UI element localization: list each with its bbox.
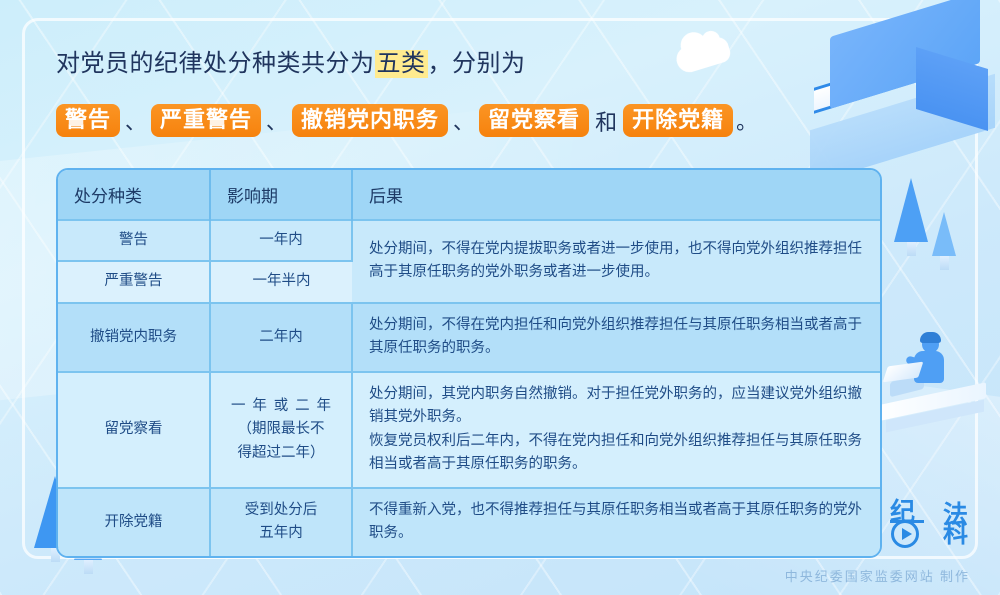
footer-credit: 中央纪委国家监委网站 制作 <box>785 566 970 585</box>
period-line-2: 五年内 <box>225 522 337 545</box>
table-header: 处分种类 影响期 后果 <box>58 170 880 220</box>
headline-before-text: 对党员的纪律处分种类共分为 <box>56 51 375 77</box>
cell-period-serious-warning: 一年半内 <box>210 261 352 302</box>
table-row: 警告 一年内 处分期间，不得在党内提拔职务或者进一步使用，也不得向党外组织推荐担… <box>58 220 880 261</box>
period-line-3: 得超过二年） <box>225 442 337 465</box>
badge-expulsion: 开除党籍 <box>623 104 733 137</box>
period-line-1: 一 年 或 二 年 <box>225 395 337 418</box>
cell-kind-warning: 警告 <box>58 220 210 261</box>
badge-conjunction: 和 <box>589 105 623 137</box>
cell-consequence-revoke-post: 处分期间，不得在党内担任和向党外组织推荐担任与其原任职务相当或者高于其原任职务的… <box>352 303 880 372</box>
consequence-paragraph-1: 处分期间，其党内职务自然撤销。对于担任党外职务的，应当建议党外组织撤销其党外职务… <box>369 383 864 430</box>
punishment-type-badge-list: 警告 、 严重警告 、 撤销党内职务 、 留党察看 和 开除党籍 。 <box>56 104 757 137</box>
punishment-table: 处分种类 影响期 后果 警告 一年内 处分期间，不得在党内提拔职务或者进一步使用… <box>58 170 880 556</box>
badge-separator: 、 <box>120 106 151 136</box>
cell-kind-probation: 留党察看 <box>58 372 210 488</box>
table-row: 撤销党内职务 二年内 处分期间，不得在党内担任和向党外组织推荐担任与其原任职务相… <box>58 303 880 372</box>
table-body: 警告 一年内 处分期间，不得在党内提拔职务或者进一步使用，也不得向党外组织推荐担… <box>58 220 880 556</box>
badge-serious-warning: 严重警告 <box>151 104 261 137</box>
cell-period-probation: 一 年 或 二 年 （期限最长不 得超过二年） <box>210 372 352 488</box>
cell-kind-revoke-post: 撤销党内职务 <box>58 303 210 372</box>
headline-highlight: 五类 <box>375 50 428 78</box>
period-line-1: 受到处分后 <box>225 499 337 522</box>
column-header-kind: 处分种类 <box>58 170 210 220</box>
cell-period-revoke-post: 二年内 <box>210 303 352 372</box>
badge-separator: 、 <box>448 106 479 136</box>
cell-kind-serious-warning: 严重警告 <box>58 261 210 302</box>
site-logo: 纪 法 科 <box>890 492 968 548</box>
period-line-2: （期限最长不 <box>225 418 337 441</box>
table-row: 留党察看 一 年 或 二 年 （期限最长不 得超过二年） 处分期间，其党内职务自… <box>58 372 880 488</box>
badge-probation: 留党察看 <box>479 104 589 137</box>
cell-consequence-warning-group: 处分期间，不得在党内提拔职务或者进一步使用，也不得向党外组织推荐担任高于其原任职… <box>352 220 880 303</box>
poster-canvas: 对党员的纪律处分种类共分为五类，分别为 警告 、 严重警告 、 撤销党内职务 、… <box>0 0 1000 595</box>
headline-after-text: ，分别为 <box>428 51 526 77</box>
punishment-table-container: 处分种类 影响期 后果 警告 一年内 处分期间，不得在党内提拔职务或者进一步使用… <box>56 168 882 558</box>
badge-period-mark: 。 <box>733 106 757 136</box>
cell-consequence-probation: 处分期间，其党内职务自然撤销。对于担任党外职务的，应当建议党外组织撤销其党外职务… <box>352 372 880 488</box>
logo-char-ke: 科 <box>943 514 968 550</box>
badge-warning: 警告 <box>56 104 120 137</box>
column-header-period: 影响期 <box>210 170 352 220</box>
badge-separator: 、 <box>261 106 292 136</box>
play-circle-icon <box>891 520 919 548</box>
table-header-row: 处分种类 影响期 后果 <box>58 170 880 220</box>
cell-period-warning: 一年内 <box>210 220 352 261</box>
page-title: 对党员的纪律处分种类共分为五类，分别为 <box>56 48 756 80</box>
badge-revoke-party-post: 撤销党内职务 <box>292 104 448 137</box>
column-header-consequence: 后果 <box>352 170 880 220</box>
cell-consequence-expulsion: 不得重新入党，也不得推荐担任与其原任职务相当或者高于其原任职务的党外职务。 <box>352 488 880 556</box>
table-row: 开除党籍 受到处分后 五年内 不得重新入党，也不得推荐担任与其原任职务相当或者高… <box>58 488 880 556</box>
cell-period-expulsion: 受到处分后 五年内 <box>210 488 352 556</box>
consequence-paragraph-2: 恢复党员权利后二年内，不得在党内担任和向党外组织推荐担任与其原任职务相当或者高于… <box>369 430 864 477</box>
cell-kind-expulsion: 开除党籍 <box>58 488 210 556</box>
poster-content: 对党员的纪律处分种类共分为五类，分别为 警告 、 严重警告 、 撤销党内职务 、… <box>0 0 1000 595</box>
